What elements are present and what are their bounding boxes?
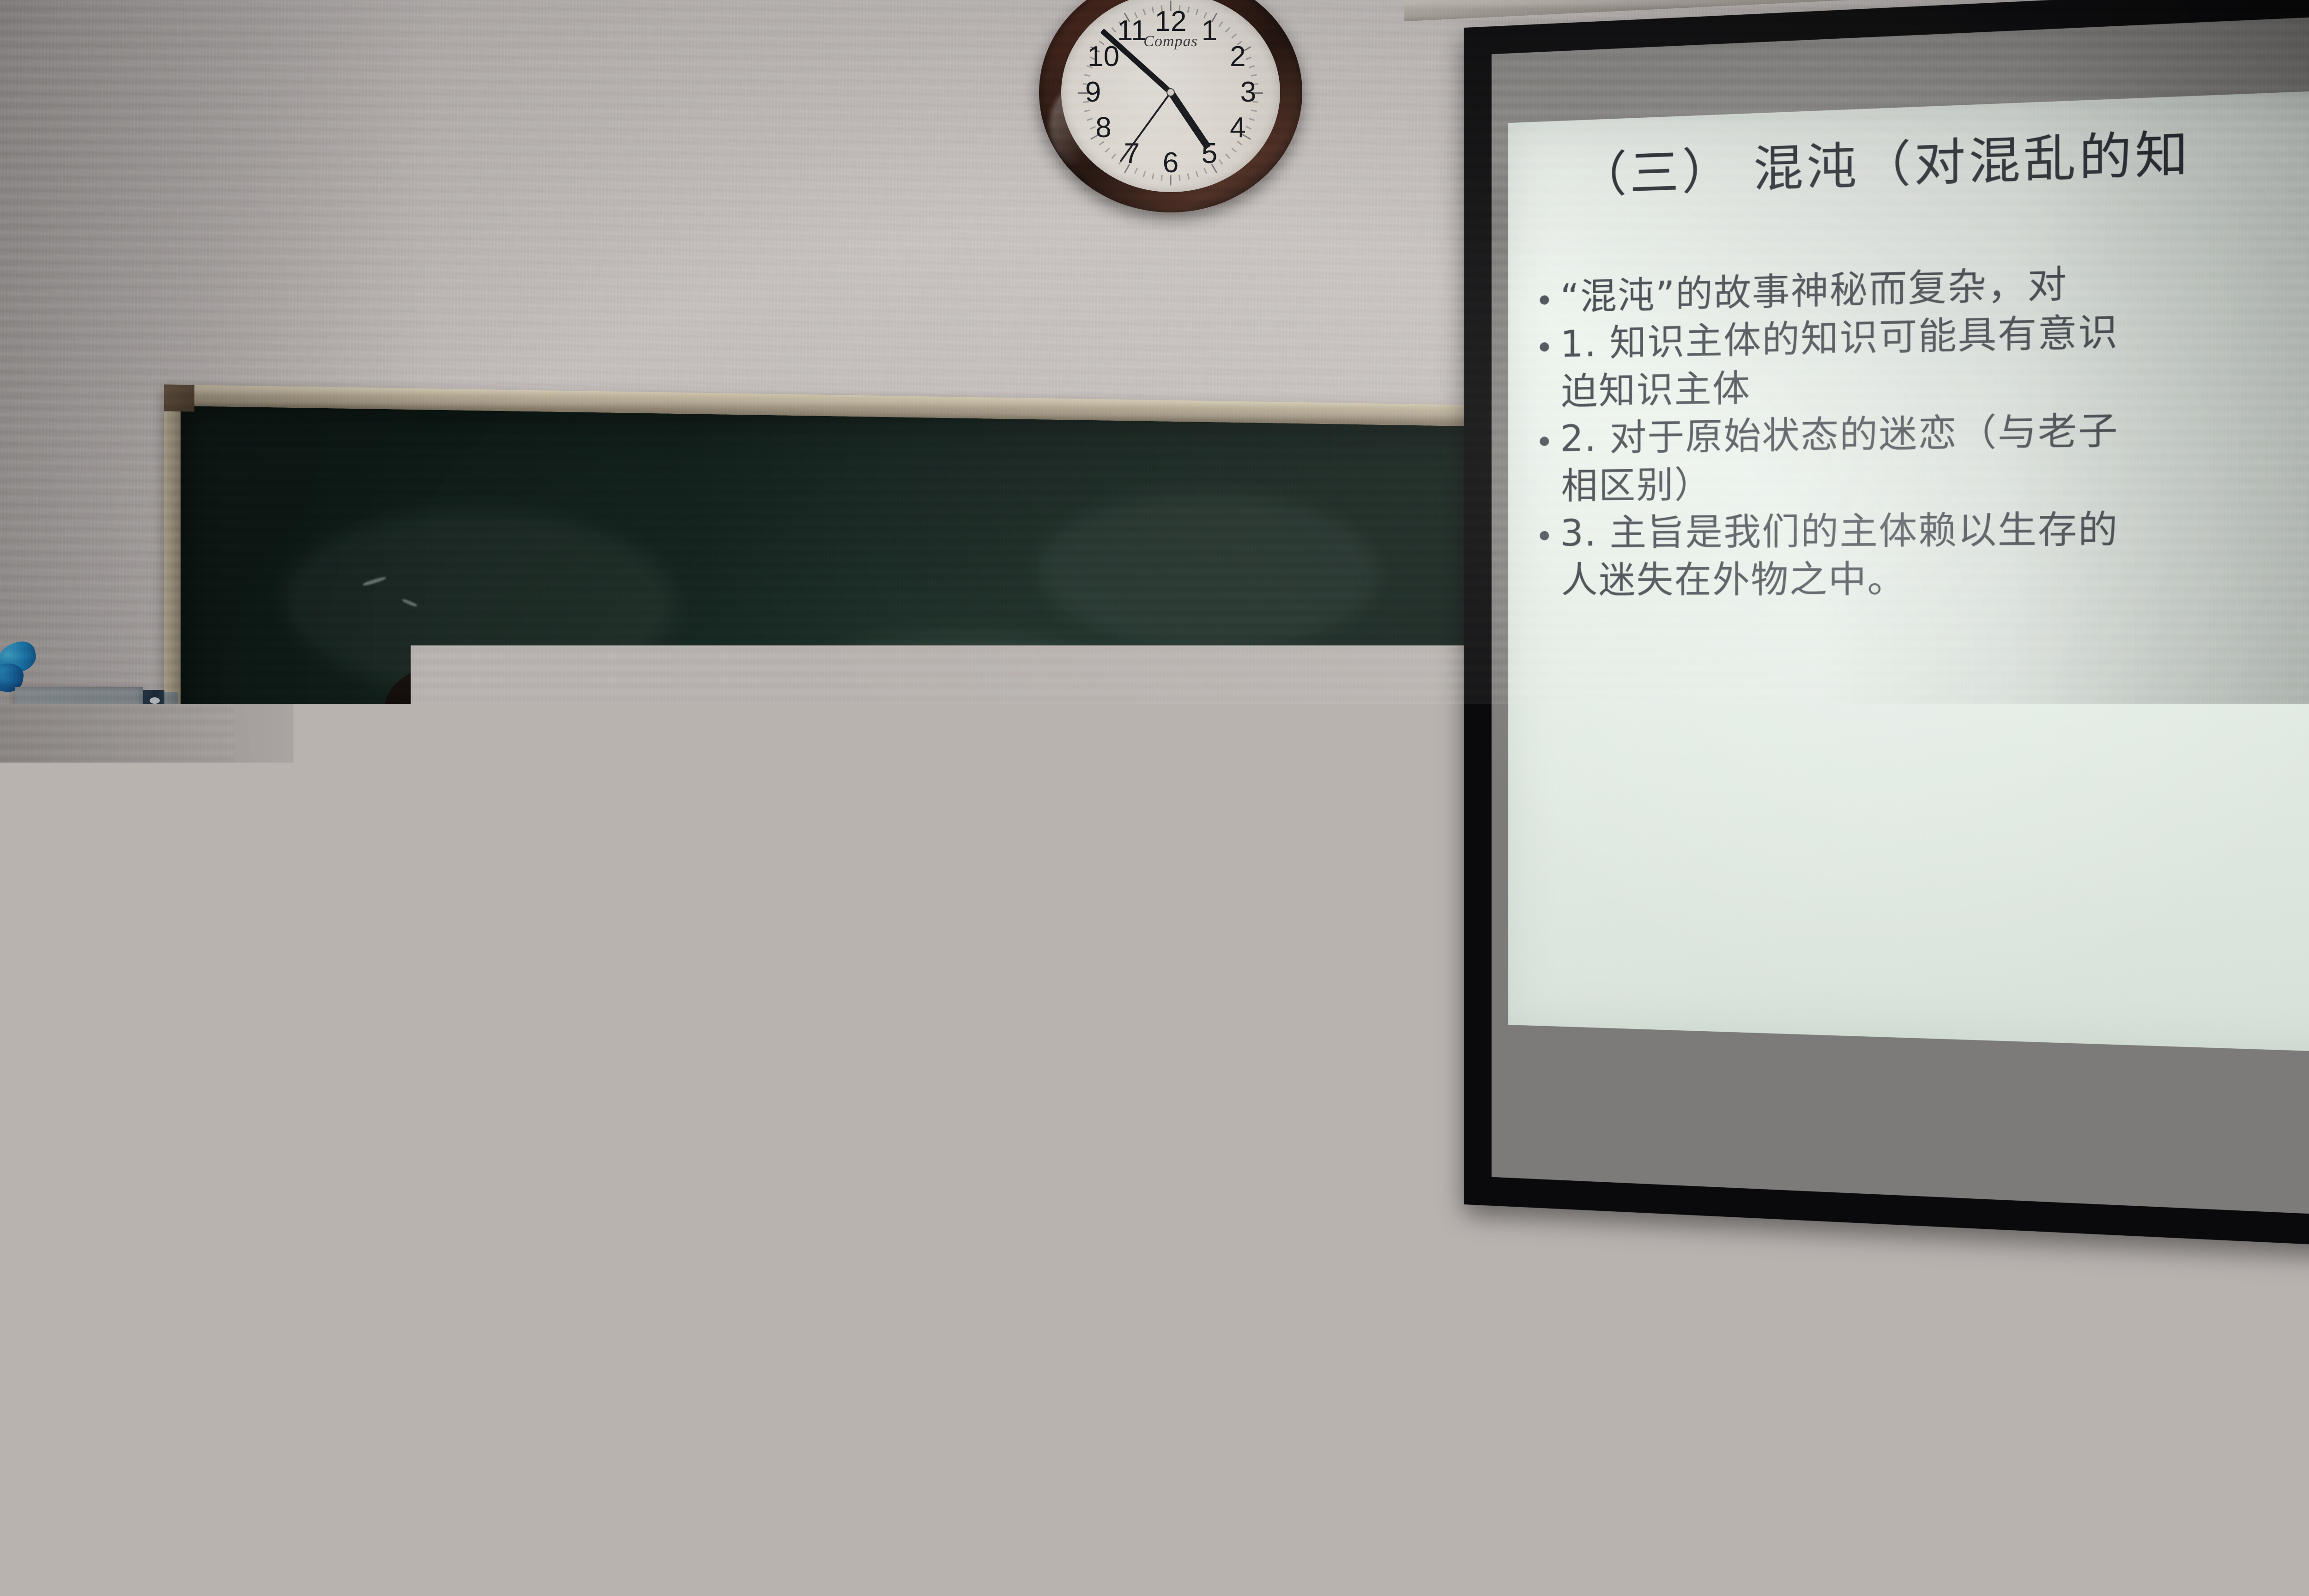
scene-vignette (0, 0, 2309, 1596)
classroom-photo-scene: Compas 121234567891011 (0, 0, 2309, 1596)
